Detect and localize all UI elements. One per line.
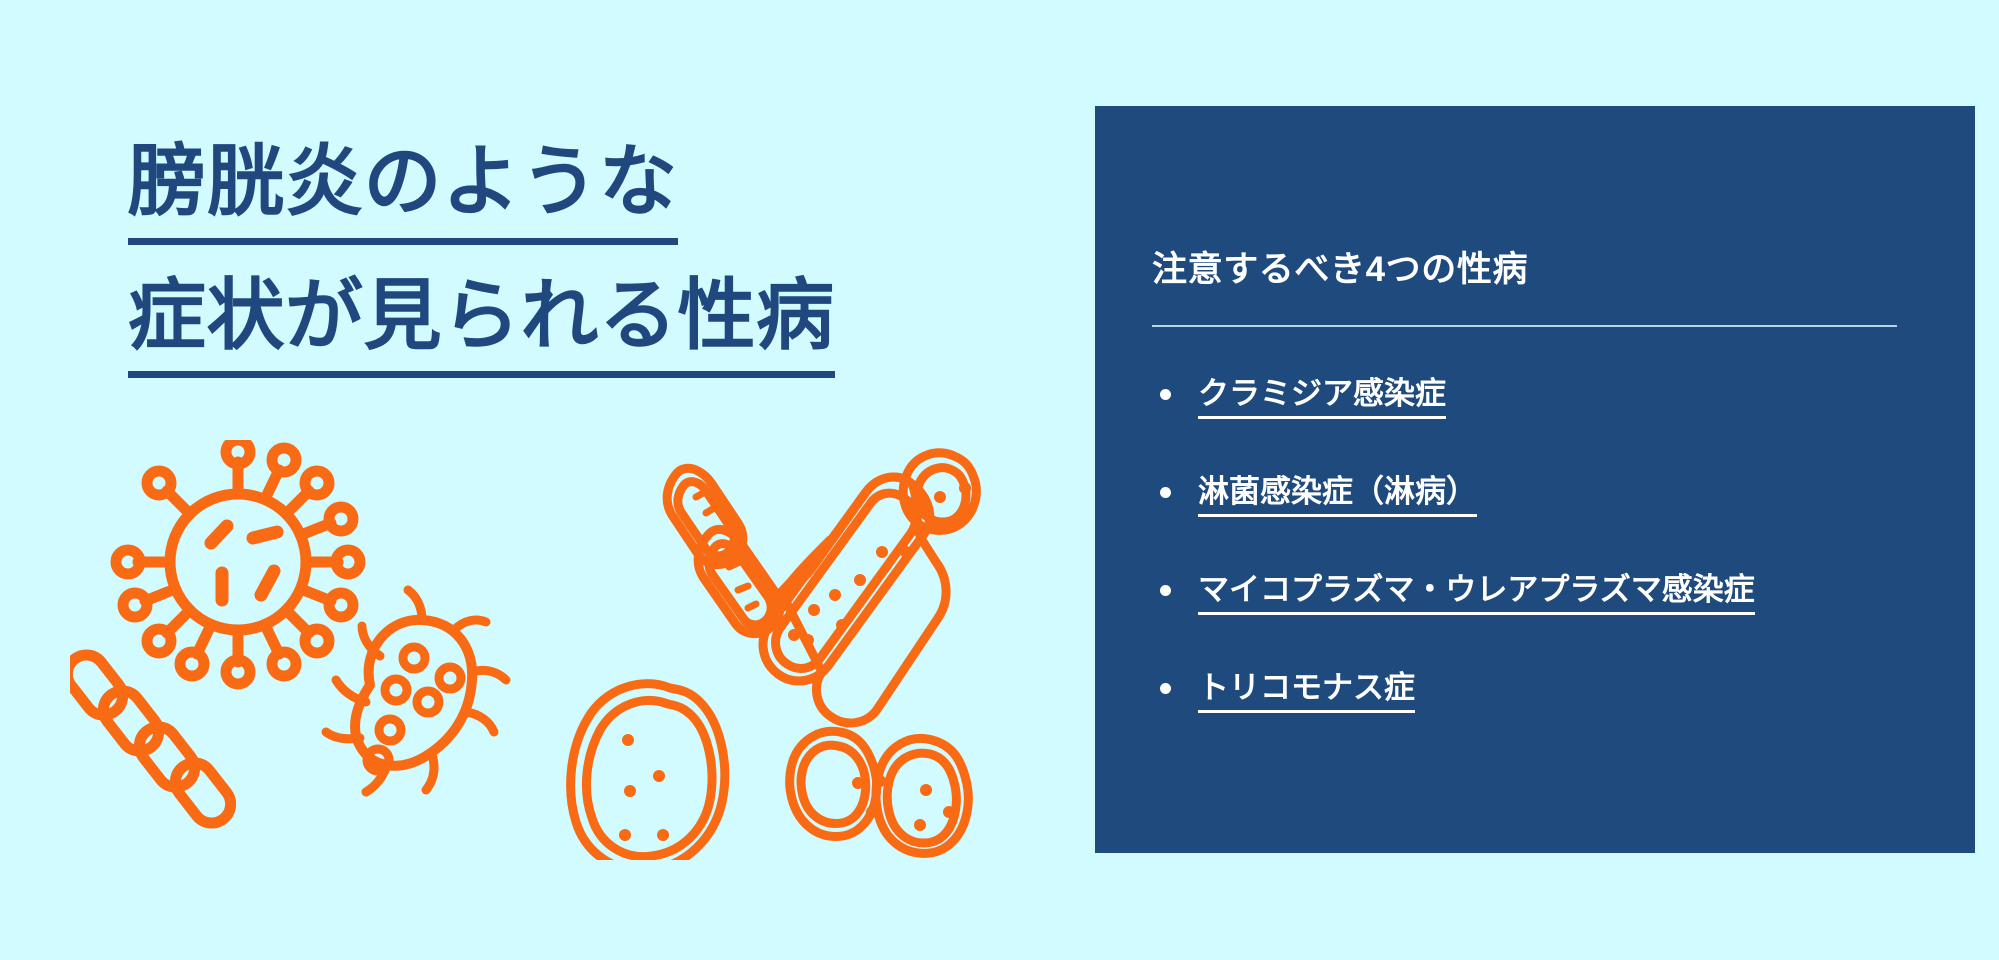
title-line-1: 膀胱炎のような [128, 128, 678, 245]
twin-blob-cell-left [790, 731, 886, 836]
bullet-icon [1160, 585, 1171, 596]
page-title: 膀胱炎のような 症状が見られる性病 [128, 128, 968, 378]
bullet-icon [1160, 683, 1171, 694]
twin-blob-cell-right [876, 738, 968, 853]
list-item[interactable]: マイコプラズマ・ウレアプラズマ感染症 [1152, 574, 1952, 615]
list-item-label: 淋菌感染症（淋病） [1198, 476, 1477, 517]
germs-illustration [70, 440, 1000, 860]
bullet-icon [1160, 389, 1171, 400]
list-item-label: トリコモナス症 [1198, 672, 1415, 713]
title-line-2: 症状が見られる性病 [128, 262, 835, 379]
bullet-icon [1160, 487, 1171, 498]
large-blob-cell [571, 684, 725, 860]
disease-list: クラミジア感染症 淋菌感染症（淋病） マイコプラズマ・ウレアプラズマ感染症 トリ… [1152, 378, 1952, 713]
list-item[interactable]: トリコモナス症 [1152, 672, 1952, 713]
list-item-label: マイコプラズマ・ウレアプラズマ感染症 [1198, 574, 1755, 615]
small-blob-cell [903, 453, 976, 531]
panel-divider [1152, 325, 1897, 327]
rod-pair-cell [667, 468, 780, 633]
list-item[interactable]: 淋菌感染症（淋病） [1152, 476, 1952, 517]
list-item[interactable]: クラミジア感染症 [1152, 378, 1952, 419]
slide-canvas: 膀胱炎のような 症状が見られる性病 [0, 0, 1999, 960]
bacteria-chain [70, 647, 238, 830]
virus-with-spikes [116, 440, 360, 684]
list-item-label: クラミジア感染症 [1198, 378, 1446, 419]
flagellated-bacterium [326, 590, 506, 792]
info-panel: 注意するべき4つの性病 クラミジア感染症 淋菌感染症（淋病） マイコプラズマ・ウ… [1095, 106, 1975, 853]
panel-heading: 注意するべき4つの性病 [1152, 241, 1528, 292]
